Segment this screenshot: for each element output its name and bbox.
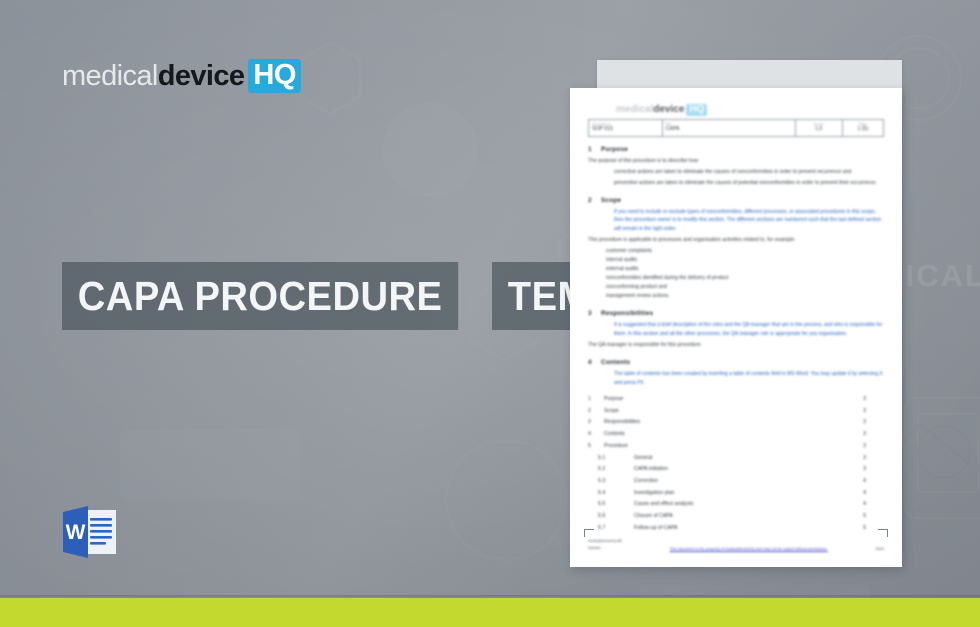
header-cell-page: Page 1 (5) (842, 120, 883, 137)
toc-entry: 1Purpose3 (588, 394, 884, 406)
document-header-logo: medicaldeviceHQ (588, 104, 884, 116)
crop-mark-right (878, 529, 888, 537)
doc-paragraph: This procedure is applicable to processe… (588, 236, 884, 245)
footer-link[interactable]: This document is the property of medical… (670, 547, 828, 551)
poster-canvas: MEDICAL medicaldeviceHQ CAPA PROCEDURE T… (0, 0, 980, 627)
doc-section-heading-3: 3Responsibilities (588, 310, 884, 317)
doc-paragraph: preventive actions are taken to eliminat… (588, 179, 884, 188)
doc-logo-medical: medical (616, 105, 653, 115)
toc-entry: 5.2CAPA initiation3 (588, 464, 884, 476)
header-cell-version: Version 1.0 (795, 120, 842, 137)
document-preview-page[interactable]: medicaldeviceHQ Document no. SOP 015 Tit… (570, 88, 902, 567)
doc-section-heading-4: 4Contents (588, 359, 884, 366)
microsoft-word-icon[interactable]: W (57, 503, 123, 561)
bottom-accent-bar (0, 598, 980, 627)
toc-entry: 5.1General3 (588, 453, 884, 465)
toc-entry: 5.5Cause and effect analysis4 (588, 499, 884, 511)
doc-section-heading-1: 1Purpose (588, 146, 884, 153)
doc-bullet: internal audits (588, 256, 884, 265)
brand-logo: medicaldeviceHQ (62, 59, 301, 93)
doc-instruction-note: If you need to include or exclude types … (588, 208, 884, 234)
doc-paragraph: corrective actions are taken to eliminat… (588, 168, 884, 177)
toc-entry: 5Procedure3 (588, 441, 884, 453)
toc-entry: 4Contents3 (588, 429, 884, 441)
table-row: Document no. SOP 015 Title CAPA Version … (589, 120, 884, 137)
doc-bullet: management review actions. (588, 292, 884, 301)
document-table-of-contents: 1Purpose3 2Scope3 3Responsibilities3 4Co… (588, 394, 884, 534)
footer-country: Sweden (588, 545, 622, 551)
doc-bullet: customer complaints (588, 247, 884, 256)
doc-instruction-note: The table of contents has been created b… (588, 370, 884, 387)
crop-mark-left (584, 529, 594, 537)
title-line-1: CAPA PROCEDURE (62, 262, 458, 330)
toc-entry: 2Scope3 (588, 406, 884, 418)
toc-entry: 5.4Investigation plan4 (588, 488, 884, 500)
footer-year: 2020 (876, 547, 884, 551)
doc-paragraph: The QA manager is responsible for this p… (588, 341, 884, 350)
toc-entry: 5.3Correction4 (588, 476, 884, 488)
header-cell-title: Title CAPA (662, 120, 795, 137)
logo-text-medical: medical (62, 62, 158, 91)
toc-entry: 3Responsibilities3 (588, 417, 884, 429)
doc-bullet: nonconformities identified during the de… (588, 274, 884, 283)
footer-notice: This document is the property of medical… (670, 547, 828, 551)
document-footer: medicaldeviceHQ AB Sweden This document … (570, 538, 902, 551)
logo-text-device: device (158, 62, 245, 91)
doc-section-heading-2: 2Scope (588, 197, 884, 204)
footer-company: medicaldeviceHQ AB (588, 538, 622, 544)
header-cell-docno: Document no. SOP 015 (589, 120, 663, 137)
document-header-table: Document no. SOP 015 Title CAPA Version … (588, 119, 884, 137)
toc-entry: 5.7Follow-up of CAPA5 (588, 523, 884, 535)
doc-bullet: external audits (588, 265, 884, 274)
doc-logo-hq: HQ (686, 104, 707, 116)
svg-text:W: W (66, 521, 86, 544)
logo-badge-hq: HQ (248, 59, 301, 93)
doc-logo-device: device (653, 105, 684, 115)
doc-paragraph: The purpose of this procedure is to desc… (588, 157, 884, 166)
toc-entry: 5.6Closure of CAPA5 (588, 511, 884, 523)
doc-instruction-note: It is suggested that a brief description… (588, 321, 884, 338)
doc-bullet: nonconforming product and (588, 283, 884, 292)
